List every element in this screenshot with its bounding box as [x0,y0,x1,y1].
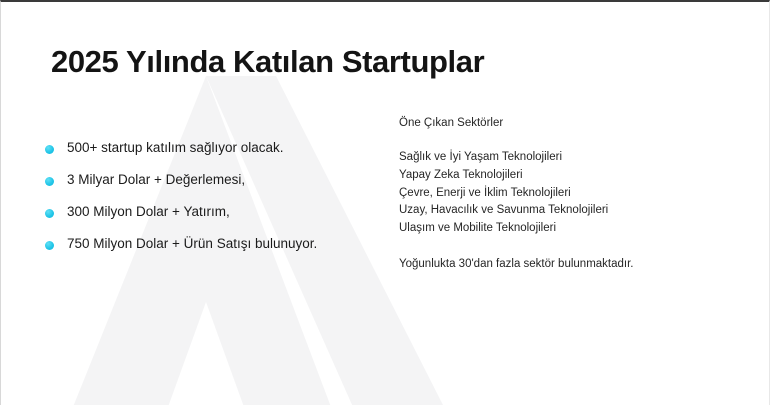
stats-bullet-list: 500+ startup katılım sağlıyor olacak. 3 … [45,140,385,268]
bullet-dot-icon [45,177,54,186]
list-item-label: 3 Milyar Dolar + Değerlemesi, [67,172,245,189]
list-item: 500+ startup katılım sağlıyor olacak. [45,140,385,157]
sectors-list: Sağlık ve İyi Yaşam Teknolojileri Yapay … [399,149,739,238]
page-title: 2025 Yılında Katılan Startuplar [51,44,484,80]
bullet-dot-icon [45,241,54,250]
bullet-dot-icon [45,145,54,154]
list-item: Çevre, Enerji ve İklim Teknolojileri [399,185,739,203]
list-item-label: 300 Milyon Dolar + Yatırım, [67,204,230,221]
list-item: 3 Milyar Dolar + Değerlemesi, [45,172,385,189]
bullet-dot-icon [45,209,54,218]
list-item-label: 500+ startup katılım sağlıyor olacak. [67,140,283,157]
slide-canvas: 2025 Yılında Katılan Startuplar 500+ sta… [0,0,770,405]
list-item: Uzay, Havacılık ve Savunma Teknolojileri [399,202,739,220]
list-item: Ulaşım ve Mobilite Teknolojileri [399,220,739,238]
sectors-panel: Öne Çıkan Sektörler Sağlık ve İyi Yaşam … [399,116,739,272]
list-item: 300 Milyon Dolar + Yatırım, [45,204,385,221]
list-item-label: 750 Milyon Dolar + Ürün Satışı bulunuyor… [67,236,317,253]
sectors-footnote: Yoğunlukta 30'dan fazla sektör bulunmakt… [399,257,739,272]
list-item: Yapay Zeka Teknolojileri [399,167,739,185]
list-item: 750 Milyon Dolar + Ürün Satışı bulunuyor… [45,236,385,253]
list-item: Sağlık ve İyi Yaşam Teknolojileri [399,149,739,167]
sectors-heading: Öne Çıkan Sektörler [399,116,739,131]
